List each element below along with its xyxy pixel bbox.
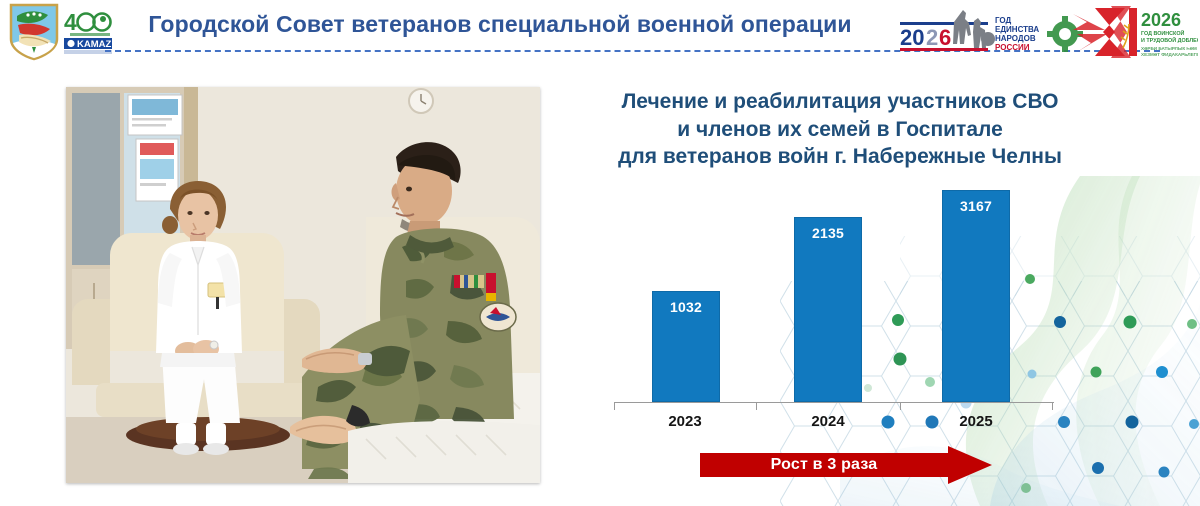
coat-of-arms-icon [8, 3, 60, 61]
svg-text:ХӘРБИ БАТЫРЛЫК ҺӘМ: ХӘРБИ БАТЫРЛЫК ҺӘМ [1141, 46, 1197, 51]
bar-2025[interactable]: 3167 [942, 190, 1010, 402]
bar-chart: 1032 2023 2135 2024 3167 2025 [600, 185, 1060, 430]
svg-text:ЕДИНСТВА: ЕДИНСТВА [995, 25, 1039, 34]
svg-text:2: 2 [926, 25, 938, 50]
axis-tick [900, 402, 901, 410]
svg-text:НАРОДОВ: НАРОДОВ [995, 34, 1036, 43]
bar-group-2024: 2135 [756, 184, 900, 402]
svg-text:И ТРУДОВОЙ ДОБЛЕСТИ: И ТРУДОВОЙ ДОБЛЕСТИ [1141, 36, 1198, 44]
bar-value-2024: 2135 [795, 225, 861, 241]
chart-axis-line [614, 402, 1054, 403]
bar-value-2023: 1032 [653, 299, 719, 315]
chart-title-line-1: Лечение и реабилитация участников СВО [575, 88, 1105, 116]
bar-2023[interactable]: 1032 [652, 291, 720, 402]
svg-text:2026: 2026 [1141, 10, 1181, 30]
svg-text:ГОД: ГОД [995, 16, 1012, 25]
growth-arrow-banner: Рост в 3 раза [700, 446, 992, 484]
hospital-consultation-photo [66, 87, 540, 483]
year-of-valor-2026-logo: 2026 ГОД ВОИНСКОЙ И ТРУДОВОЙ ДОБЛЕСТИ ХӘ… [1043, 4, 1198, 59]
slide-canvas: 4 KAMAZ Городской Совет ветеранов специа… [0, 0, 1200, 506]
axis-tick [756, 402, 757, 410]
svg-text:ХЕЗМӘТ ФИДАКАРЬЛЕГЕ ЕЛЫ: ХЕЗМӘТ ФИДАКАРЬЛЕГЕ ЕЛЫ [1141, 52, 1198, 57]
chart-title-line-3: для ветеранов войн г. Набережные Челны [575, 143, 1105, 171]
axis-tick [1052, 402, 1053, 410]
svg-text:6: 6 [939, 25, 951, 50]
category-label-2023: 2023 [614, 413, 756, 430]
chart-title: Лечение и реабилитация участников СВО и … [575, 88, 1105, 171]
bar-value-2025: 3167 [943, 198, 1009, 214]
kamaz-400-logo: 4 KAMAZ [62, 6, 114, 56]
category-label-2024: 2024 [756, 413, 900, 430]
bar-group-2023: 1032 [614, 184, 756, 402]
svg-text:20: 20 [900, 25, 924, 50]
page-title: Городской Совет ветеранов специальной во… [140, 11, 860, 38]
bar-group-2025: 3167 [900, 184, 1052, 402]
year-of-unity-2026-logo: 20 2 6 ГОД ЕДИНСТВА НАРОДОВ РОССИИ [898, 5, 1046, 57]
svg-text:ГОД ВОИНСКОЙ: ГОД ВОИНСКОЙ [1141, 29, 1185, 37]
growth-arrow-label: Рост в 3 раза [700, 446, 948, 484]
svg-text:4: 4 [64, 9, 77, 35]
axis-tick [614, 402, 615, 410]
chart-title-line-2: и членов их семей в Госпитале [575, 116, 1105, 144]
slide-header: 4 KAMAZ Городской Совет ветеранов специа… [0, 0, 1200, 62]
svg-text:KAMAZ: KAMAZ [77, 39, 111, 50]
bar-2024[interactable]: 2135 [794, 217, 862, 402]
category-label-2025: 2025 [900, 413, 1052, 430]
svg-text:РОССИИ: РОССИИ [995, 43, 1030, 52]
